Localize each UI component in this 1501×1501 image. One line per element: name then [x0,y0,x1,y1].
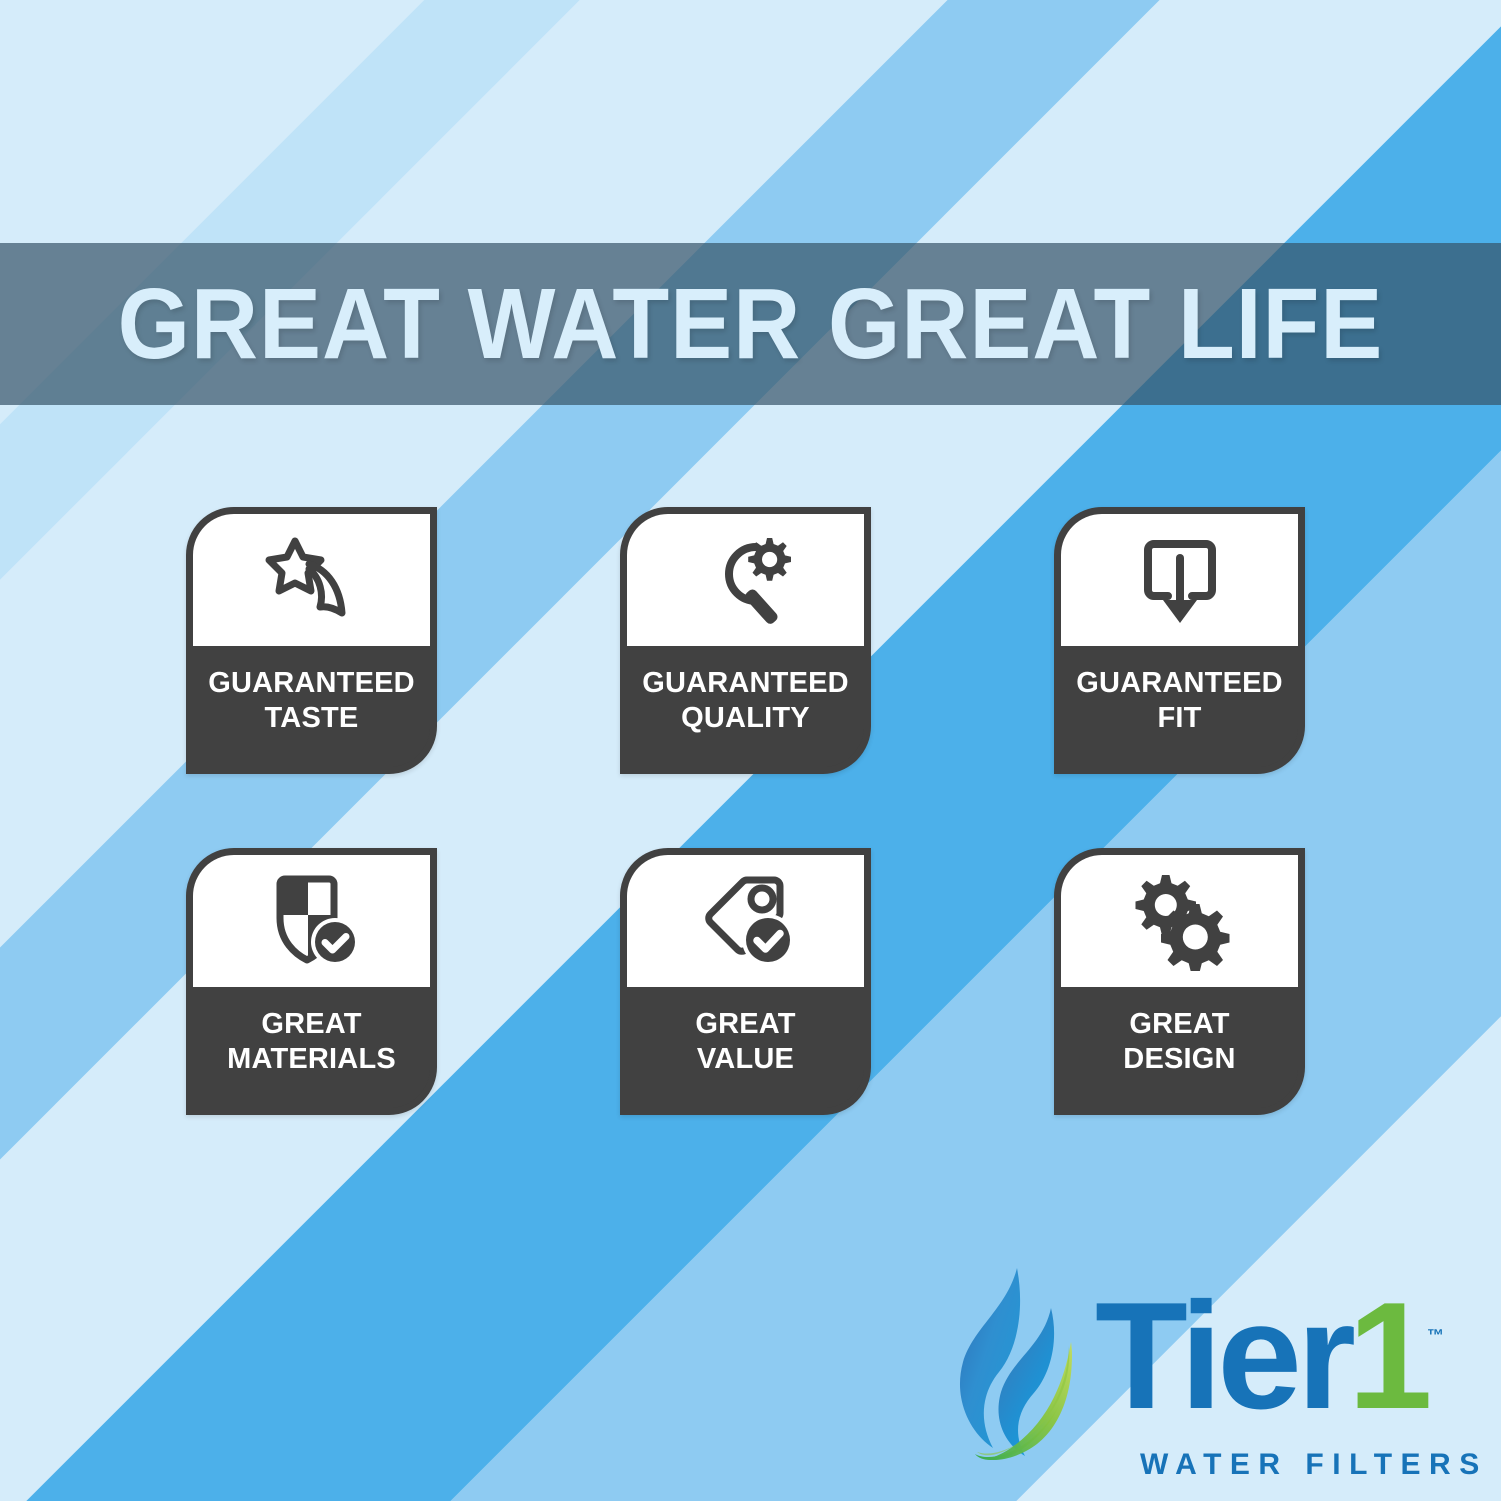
header-banner: GREAT WATER GREAT LIFE [0,243,1501,405]
card-icon-area [627,855,864,987]
card-label: GUARANTEED QUALITY [642,666,849,734]
card-label-line1: GREAT [695,1008,795,1040]
card-label-line2: TASTE [265,702,359,734]
card-icon-area [627,514,864,646]
card-label-line2: DESIGN [1123,1043,1235,1075]
card-great-materials[interactable]: GREAT MATERIALS [186,848,437,1115]
logo-tagline: WATER FILTERS [1140,1448,1488,1482]
card-great-design[interactable]: GREAT DESIGN [1054,848,1305,1115]
card-great-value[interactable]: GREAT VALUE [620,848,871,1115]
card-guaranteed-taste[interactable]: GUARANTEED TASTE [186,507,437,774]
card-label-area: GUARANTEED QUALITY [627,646,864,767]
shield-check-icon [262,871,362,971]
card-label-area: GUARANTEED FIT [1061,646,1298,767]
wordmark-tier: Tier [1095,1280,1354,1441]
arrow-into-box-icon [1132,530,1228,630]
card-label-line1: GUARANTEED [642,667,849,699]
magnifier-gear-icon [694,530,798,630]
card-label-line2: FIT [1157,702,1201,734]
card-label: GREAT DESIGN [1123,1007,1235,1075]
wordmark-numeral: 1 [1348,1280,1433,1441]
card-icon-area [1061,855,1298,987]
card-icon-area [1061,514,1298,646]
tier1-wordmark: Tier 1 [1095,1280,1440,1445]
card-label-line2: VALUE [697,1043,794,1075]
feature-card-grid: GUARANTEED TASTE [186,507,1326,1115]
card-label-area: GREAT MATERIALS [193,987,430,1108]
card-label-line1: GUARANTEED [208,667,415,699]
card-label: GREAT MATERIALS [227,1007,396,1075]
card-icon-area [193,855,430,987]
card-row-top: GUARANTEED TASTE [186,507,1326,774]
card-label-area: GUARANTEED TASTE [193,646,430,767]
card-label-area: GREAT DESIGN [1061,987,1298,1108]
card-label: GREAT VALUE [695,1007,795,1075]
trademark-symbol: ™ [1427,1326,1444,1346]
flame-leaf-logo-icon [955,1262,1105,1492]
poster-canvas: GREAT WATER GREAT LIFE GUARANTEED [0,0,1501,1501]
two-gears-icon [1128,871,1232,971]
page-title: GREAT WATER GREAT LIFE [118,274,1384,374]
brand-logo: Tier 1 ™ WATER FILTERS [955,1262,1455,1501]
card-label: GUARANTEED TASTE [208,666,415,734]
card-label-line1: GREAT [261,1008,361,1040]
shooting-star-icon [262,530,362,630]
card-guaranteed-quality[interactable]: GUARANTEED QUALITY [620,507,871,774]
price-tag-check-icon [694,871,798,971]
card-guaranteed-fit[interactable]: GUARANTEED FIT [1054,507,1305,774]
card-label-line2: QUALITY [681,702,810,734]
card-label: GUARANTEED FIT [1076,666,1283,734]
card-label-area: GREAT VALUE [627,987,864,1108]
card-label-line1: GREAT [1129,1008,1229,1040]
card-row-bottom: GREAT MATERIALS [186,848,1326,1115]
card-label-line1: GUARANTEED [1076,667,1283,699]
card-icon-area [193,514,430,646]
card-label-line2: MATERIALS [227,1043,396,1075]
